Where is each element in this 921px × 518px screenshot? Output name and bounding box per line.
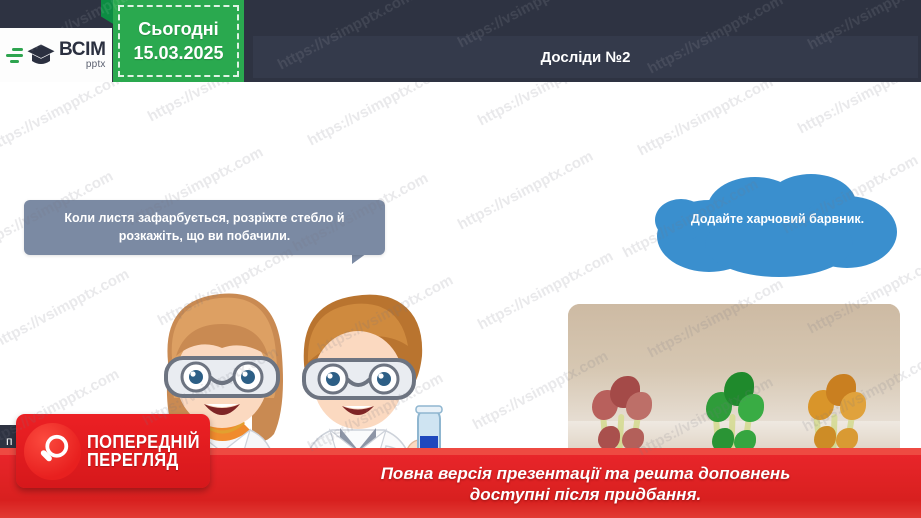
preview-badge-line-2: ПЕРЕГЛЯД [87, 451, 200, 469]
watermark-text: https://vsimpptx.com [795, 82, 921, 137]
presentation-slide: Коли листя зафарбується, розріжте стебло… [0, 0, 921, 518]
watermark-text: https://vsimpptx.com [475, 82, 616, 129]
footer-strip-text: п [6, 434, 13, 448]
page-title: Досліди №2 [541, 49, 631, 66]
logo-title: ВСІМ [59, 40, 106, 59]
speech-bubble-left-text: Коли листя зафарбується, розріжте стебло… [38, 210, 371, 245]
safety-goggles-icon [304, 360, 414, 398]
preview-badge-line-1: ПОПЕРЕДНІЙ [87, 433, 200, 451]
preview-badge[interactable]: ПОПЕРЕДНІЙ ПЕРЕГЛЯД [16, 414, 210, 488]
graduation-cap-icon [26, 40, 56, 70]
banner-line-1: Повна версія презентації та решта доповн… [381, 463, 791, 484]
watermark-text: https://vsimpptx.com [145, 82, 286, 125]
watermark-text: https://vsimpptx.com [635, 82, 776, 159]
brand-logo[interactable]: ВСІМ pptx [0, 28, 112, 82]
purchase-banner-text: Повна версія презентації та решта доповн… [250, 455, 921, 513]
logo-subtitle: pptx [59, 60, 106, 70]
watermark-text: https://vsimpptx.com [305, 82, 446, 149]
watermark-text: https://vsimpptx.com [0, 266, 132, 352]
magnifier-icon [24, 423, 81, 480]
motion-lines-icon [6, 48, 23, 63]
date-badge-label: Сьогодні [138, 18, 218, 41]
watermark-text: https://vsimpptx.com [0, 82, 126, 155]
slide-title-bar: Досліди №2 [253, 36, 918, 78]
speech-bubble-left: Коли листя зафарбується, розріжте стебло… [24, 200, 385, 255]
cloud-bubble-right: Додайте харчовий барвник. [651, 174, 904, 279]
banner-line-2: доступні після придбання. [470, 484, 701, 505]
cloud-bubble-text: Додайте харчовий барвник. [651, 210, 904, 228]
date-badge-value: 15.03.2025 [133, 42, 223, 65]
watermark-text: https://vsimpptx.com [455, 148, 596, 234]
date-badge: Сьогодні 15.03.2025 [113, 0, 244, 82]
safety-goggles-icon [166, 358, 278, 396]
